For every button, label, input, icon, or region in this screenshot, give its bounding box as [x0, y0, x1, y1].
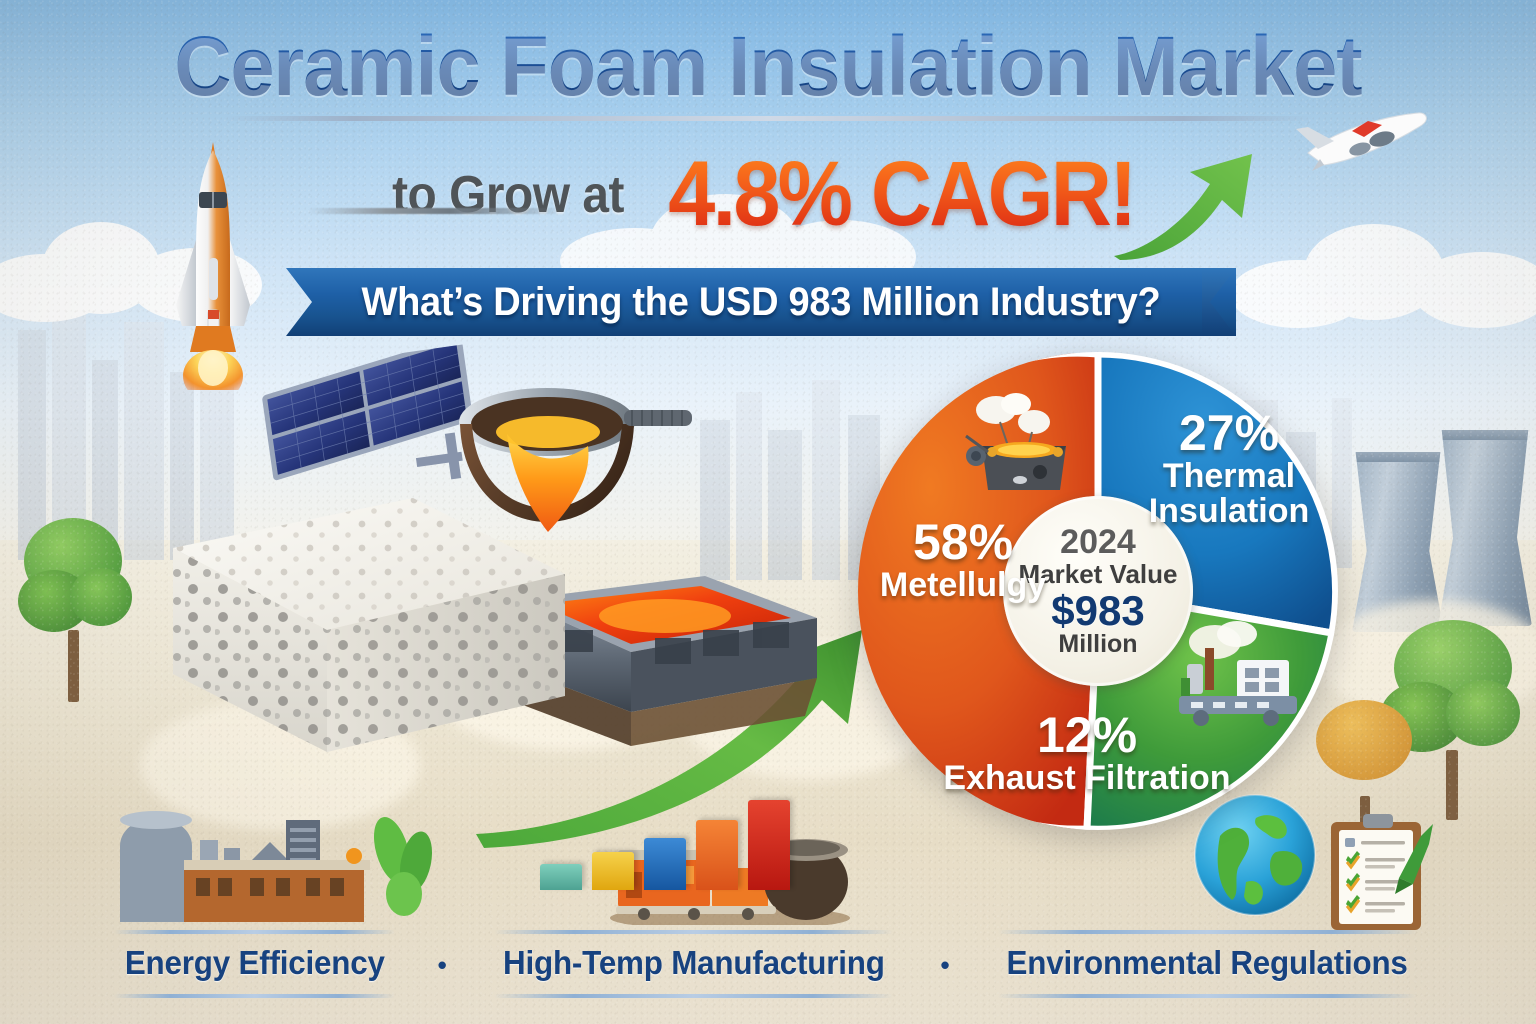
cagr-growth-arrow-icon	[1110, 150, 1260, 260]
center-amount: $983	[1051, 590, 1144, 632]
bar-1	[540, 864, 582, 890]
footer-label-energy-efficiency: Energy Efficiency	[125, 944, 385, 982]
subtitle-lead: to Grow at	[392, 165, 624, 225]
page-title: Ceramic Foam Insulation Market	[46, 24, 1490, 110]
donut-center-value: 2024 Market Value $983 Million	[1003, 496, 1193, 686]
footer-item-environmental-regulations: Environmental Regulations	[980, 938, 1434, 992]
infographic-canvas: 2024 Market Value $983 Million 58% Metel…	[0, 0, 1536, 1024]
cagr-value: 4.8% CAGR!	[668, 142, 1134, 247]
bar-3	[644, 838, 686, 890]
footer-driver-list: Energy Efficiency • High-Temp Manufactur…	[0, 930, 1536, 1000]
footer-separator-1: •	[438, 950, 447, 981]
ribbon-label: What’s Driving the USD 983 Million Indus…	[310, 268, 1213, 336]
footer-label-environmental-regulations: Environmental Regulations	[1006, 944, 1407, 982]
growth-bar-chart	[540, 800, 840, 890]
footer-label-high-temp-manufacturing: High-Temp Manufacturing	[503, 944, 885, 982]
clipboard-checklist-icon	[1325, 810, 1435, 935]
subtitle-ribbon: What’s Driving the USD 983 Million Indus…	[286, 268, 1236, 336]
factory-stack-icon	[1175, 620, 1325, 730]
footer-separator-2: •	[941, 950, 950, 981]
title-block: Ceramic Foam Insulation Market	[0, 24, 1536, 121]
molten-crucible-icon	[954, 392, 1084, 502]
bar-2	[592, 852, 634, 890]
center-label: Market Value	[1019, 561, 1178, 588]
market-share-donut-chart: 2024 Market Value $983 Million 58% Metel…	[858, 352, 1338, 830]
center-unit: Million	[1058, 632, 1137, 657]
footer-item-energy-efficiency: Energy Efficiency	[102, 938, 408, 992]
title-divider	[223, 116, 1313, 121]
molten-metal-ladle	[452, 380, 702, 550]
subtitle-underline	[308, 208, 566, 214]
industrial-facility-left	[110, 800, 440, 930]
subtitle-row: to Grow at 4.8% CAGR!	[0, 142, 1536, 247]
bar-5	[748, 800, 790, 890]
footer-item-high-temp-manufacturing: High-Temp Manufacturing	[477, 938, 911, 992]
bar-4	[696, 820, 738, 890]
center-year: 2024	[1060, 525, 1136, 559]
